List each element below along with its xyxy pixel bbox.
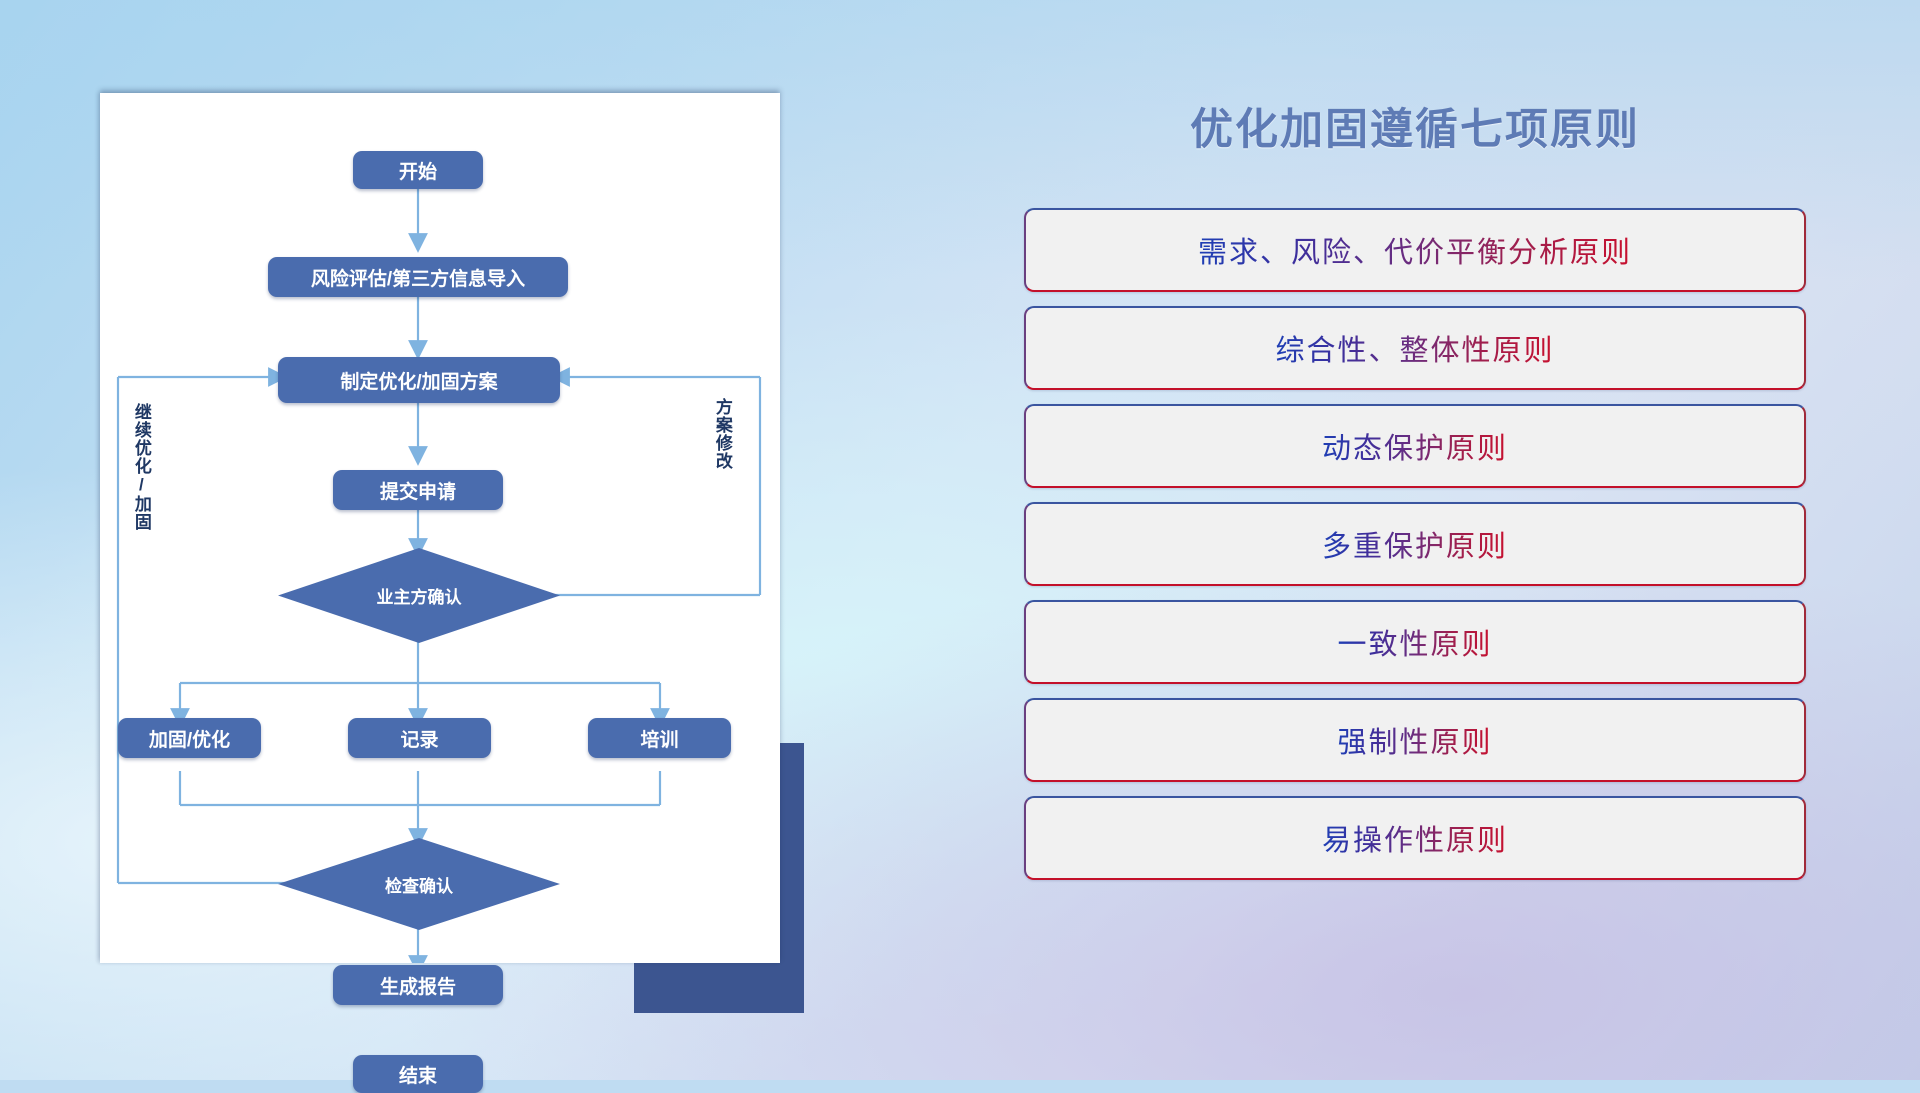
principle-item[interactable]: 多重保护原则 (1024, 502, 1806, 586)
flow-node-label: 生成报告 (380, 972, 456, 999)
flowchart-card: 开始 风险评估/第三方信息导入 制定优化/加固方案 提交申请 业主方确认 加固/… (100, 93, 780, 963)
flow-node-check-confirm[interactable]: 检查确认 (278, 838, 560, 930)
principle-label: 多重保护原则 (1322, 523, 1508, 565)
flow-node-label: 业主方确认 (377, 583, 462, 608)
flow-node-submit-application[interactable]: 提交申请 (333, 470, 503, 510)
principles-panel: 优化加固遵循七项原则 需求、风险、代价平衡分析原则 综合性、整体性原则 动态保护… (1000, 95, 1830, 995)
principle-label: 易操作性原则 (1322, 817, 1508, 859)
flow-node-start[interactable]: 开始 (353, 151, 483, 189)
flow-node-label: 风险评估/第三方信息导入 (311, 264, 525, 291)
principle-label: 一致性原则 (1337, 621, 1492, 663)
principle-label: 需求、风险、代价平衡分析原则 (1198, 229, 1632, 271)
flow-node-end[interactable]: 结束 (353, 1055, 483, 1093)
principle-item[interactable]: 强制性原则 (1024, 698, 1806, 782)
edge-label-continue-optimize: 继续优化/加固 (132, 403, 150, 593)
principle-item[interactable]: 动态保护原则 (1024, 404, 1806, 488)
principle-item[interactable]: 易操作性原则 (1024, 796, 1806, 880)
flow-node-training[interactable]: 培训 (588, 718, 731, 758)
flowchart-canvas: 开始 风险评估/第三方信息导入 制定优化/加固方案 提交申请 业主方确认 加固/… (100, 93, 780, 963)
edge-label-plan-revision: 方案修改 (713, 398, 731, 528)
flow-node-label: 制定优化/加固方案 (340, 367, 497, 394)
principles-list: 需求、风险、代价平衡分析原则 综合性、整体性原则 动态保护原则 多重保护原则 一… (1024, 208, 1806, 894)
flow-node-label: 加固/优化 (149, 725, 230, 752)
flow-node-label: 记录 (400, 725, 438, 752)
principles-title: 优化加固遵循七项原则 (1000, 95, 1830, 157)
flowchart-connectors (100, 93, 780, 963)
flow-node-label: 检查确认 (385, 872, 453, 897)
flow-node-reinforce[interactable]: 加固/优化 (118, 718, 261, 758)
principle-item[interactable]: 需求、风险、代价平衡分析原则 (1024, 208, 1806, 292)
flow-node-label: 培训 (640, 725, 678, 752)
flow-node-record[interactable]: 记录 (348, 718, 491, 758)
principle-label: 综合性、整体性原则 (1275, 327, 1554, 369)
principle-label: 强制性原则 (1337, 719, 1492, 761)
principle-item[interactable]: 综合性、整体性原则 (1024, 306, 1806, 390)
flow-node-label: 提交申请 (380, 477, 456, 504)
principle-item[interactable]: 一致性原则 (1024, 600, 1806, 684)
flow-node-label: 开始 (399, 157, 437, 184)
flow-node-owner-confirm[interactable]: 业主方确认 (278, 548, 560, 643)
flow-node-generate-report[interactable]: 生成报告 (333, 965, 503, 1005)
principle-label: 动态保护原则 (1322, 425, 1508, 467)
flowchart-panel: 开始 风险评估/第三方信息导入 制定优化/加固方案 提交申请 业主方确认 加固/… (100, 93, 780, 963)
flow-node-plan[interactable]: 制定优化/加固方案 (278, 357, 560, 403)
flow-node-label: 结束 (399, 1061, 437, 1088)
flow-node-risk-assessment[interactable]: 风险评估/第三方信息导入 (268, 257, 568, 297)
